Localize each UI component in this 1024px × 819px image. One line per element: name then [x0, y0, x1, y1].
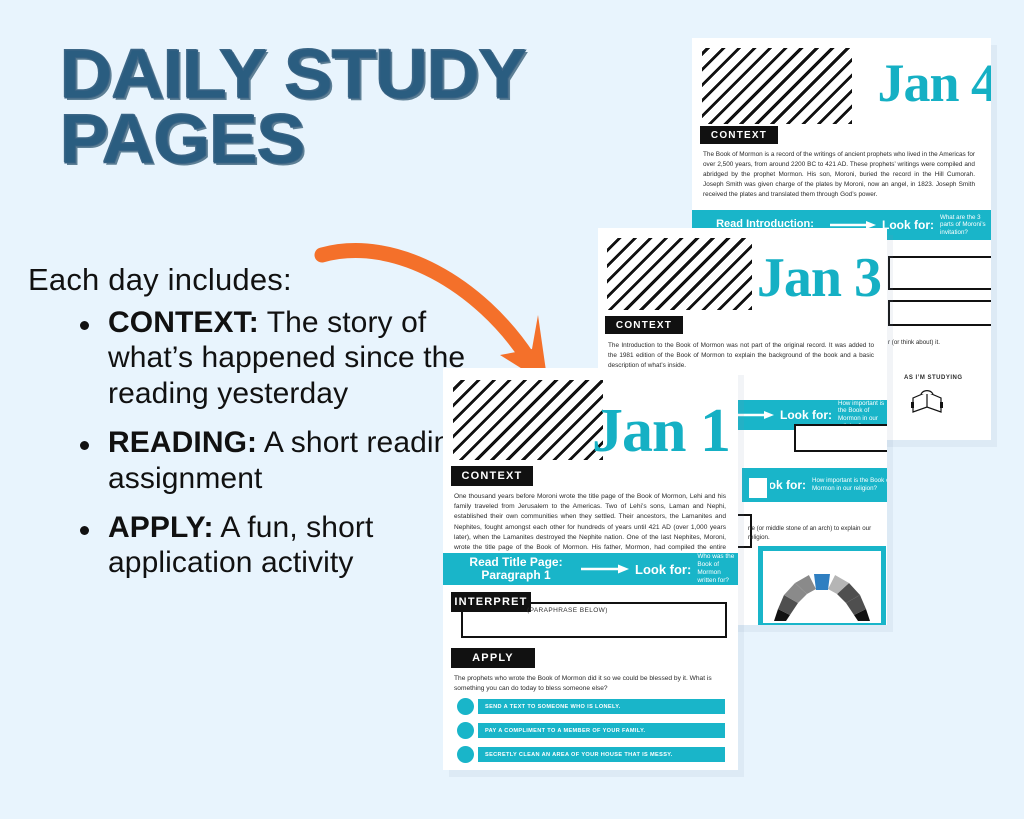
day-label: Jan 4: [877, 56, 991, 110]
apply-options-list: SEND A TEXT TO SOMEONE WHO IS LONELY. PA…: [457, 698, 725, 770]
apply-body: The prophets who wrote the Book of Mormo…: [454, 674, 729, 694]
day-label: Jan 1: [592, 400, 730, 462]
list-item[interactable]: SECRETLY CLEAN AN AREA OF YOUR HOUSE THA…: [457, 746, 725, 763]
list-item-term: APPLY:: [108, 511, 214, 544]
teal-checkbox[interactable]: [746, 475, 770, 501]
list-item-term: READING:: [108, 426, 257, 459]
title-line-2: PAGES: [60, 107, 549, 172]
answer-box[interactable]: [794, 424, 887, 452]
lookfor-label: Look for:: [635, 562, 691, 577]
answer-box[interactable]: [888, 300, 991, 326]
lookfor-question: How important is the Book of Mormon in o…: [806, 477, 887, 492]
day-label: Jan 3: [757, 250, 881, 306]
study-heading: AS I’M STUDYING: [904, 374, 991, 383]
circle-bullet-icon: [457, 722, 474, 739]
context-tag: CONTEXT: [700, 126, 778, 144]
read-assignment-label: Read Title Page: Paragraph 1: [443, 556, 575, 581]
context-body: The Introduction to the Book of Mormon w…: [608, 341, 874, 371]
circle-bullet-icon: [457, 698, 474, 715]
list-item-term: CONTEXT:: [108, 306, 259, 339]
feature-list: CONTEXT: The story of what’s happened si…: [52, 305, 480, 595]
interpret-hint: (PARAPHRASE BELOW): [527, 607, 608, 614]
context-tag: CONTEXT: [605, 316, 683, 334]
diagonal-hatch-decoration: [702, 48, 852, 124]
list-item: APPLY: A fun, short application activity: [80, 510, 480, 581]
apply-option-label: SECRETLY CLEAN AN AREA OF YOUR HOUSE THA…: [478, 747, 725, 762]
lookfor-label: Look for:: [882, 218, 934, 232]
poster-canvas: DAILY STUDY PAGES Each day includes: CON…: [0, 0, 1024, 819]
answer-box[interactable]: [888, 256, 991, 290]
diagonal-hatch-decoration: [453, 380, 603, 460]
list-item[interactable]: SEND A TEXT TO SOMEONE WHO IS LONELY.: [457, 698, 725, 715]
keystone-arch-icon: [758, 546, 886, 625]
context-tag: CONTEXT: [451, 466, 533, 486]
partial-instruction-text: r (or think about) it.: [888, 338, 991, 347]
interpret-tag: INTERPRET: [451, 592, 531, 612]
page-title: DAILY STUDY PAGES: [60, 42, 549, 172]
apply-tag: APPLY: [451, 648, 535, 668]
list-item[interactable]: PAY A COMPLIMENT TO A MEMBER OF YOUR FAM…: [457, 722, 725, 739]
apply-option-label: PAY A COMPLIMENT TO A MEMBER OF YOUR FAM…: [478, 723, 725, 738]
right-arrow-icon: [581, 564, 629, 574]
context-body: The Book of Mormon is a record of the wr…: [703, 150, 975, 200]
lookfor-label: Look for:: [780, 408, 832, 422]
lookfor-question: What are the 3 parts of Moroni’s invitat…: [934, 214, 991, 237]
list-item: CONTEXT: The story of what’s happened si…: [80, 305, 480, 411]
reading-banner: Read Title Page: Paragraph 1 Look for: W…: [443, 553, 738, 585]
open-book-icon: [910, 386, 944, 416]
intro-text: Each day includes:: [28, 262, 292, 298]
worksheet-page-jan1[interactable]: Jan 1 CONTEXT One thousand years before …: [443, 368, 738, 770]
circle-bullet-icon: [457, 746, 474, 763]
title-line-1: DAILY STUDY: [60, 42, 549, 107]
lookfor-question: Who was the Book of Mormon written for?: [691, 553, 738, 584]
diagonal-hatch-decoration: [607, 238, 752, 310]
list-item: READING: A short reading assignment: [80, 425, 480, 496]
apply-option-label: SEND A TEXT TO SOMEONE WHO IS LONELY.: [478, 699, 725, 714]
partial-instruction-text: ne (or middle stone of an arch) to expla…: [748, 524, 883, 543]
